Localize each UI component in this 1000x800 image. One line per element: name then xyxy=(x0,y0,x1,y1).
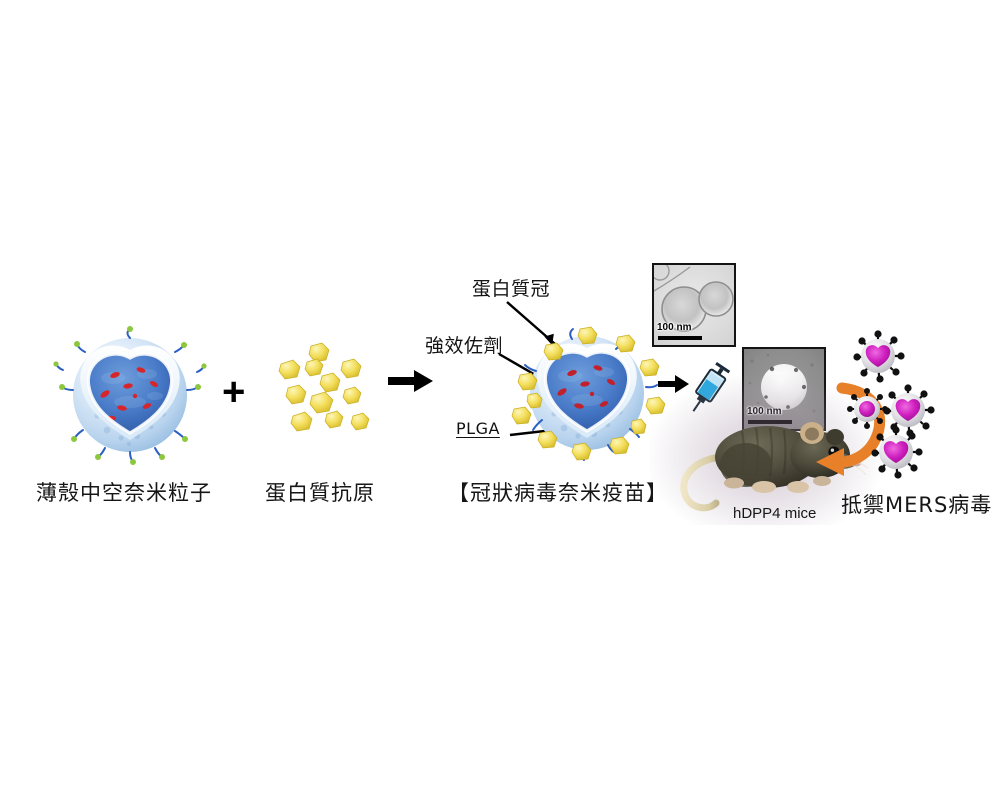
gold-antigen-blobs xyxy=(279,343,369,431)
virion xyxy=(853,330,904,382)
cryo-tem-panel: 100 nm xyxy=(652,263,736,347)
vaccine-caption: 【冠狀病毒奈米疫苗】 xyxy=(448,477,668,507)
scale-bar-line xyxy=(658,336,702,340)
protein-antigen-illustration xyxy=(265,340,385,450)
potent-adjuvant-label: 強效佐劑 xyxy=(425,331,503,358)
protein-corona-label: 蛋白質冠 xyxy=(472,274,550,301)
antigen-caption: 蛋白質抗原 xyxy=(265,477,375,507)
plga-label: PLGA xyxy=(456,419,500,438)
figure-canvas: 薄殼中空奈米粒子 + xyxy=(0,0,1000,800)
hollow-nanoparticle-illustration xyxy=(55,330,205,460)
mouse-caption: hDPP4 mice xyxy=(733,505,816,522)
virion xyxy=(847,388,888,429)
scale-bar-label: 100 nm xyxy=(657,322,691,333)
mers-virus-particles xyxy=(848,332,988,477)
right-arrow-1 xyxy=(388,368,434,394)
nanovaccine-illustration xyxy=(512,325,662,460)
outcome-caption: 抵禦MERS病毒 xyxy=(841,489,992,519)
nanoparticle-caption: 薄殼中空奈米粒子 xyxy=(36,477,212,507)
virion xyxy=(871,426,922,478)
virion xyxy=(883,384,934,436)
plus-operator: + xyxy=(222,372,245,412)
